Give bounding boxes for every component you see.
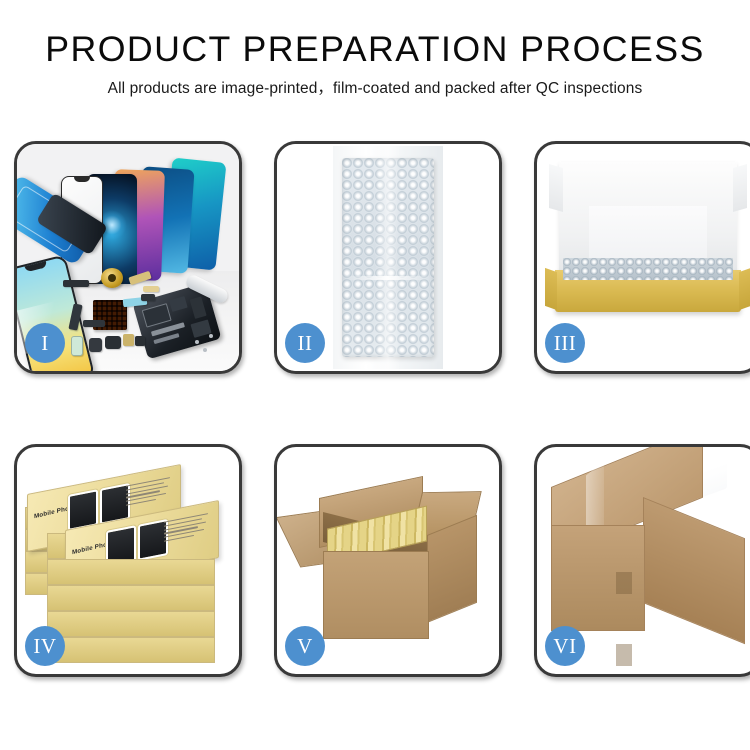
carton-side-left-icon <box>551 525 645 631</box>
screw-icon <box>195 340 199 344</box>
stacked-box-icon <box>47 559 215 585</box>
speaker-coil-icon <box>101 268 123 288</box>
step-badge-3: III <box>545 323 585 363</box>
box-side-left-icon <box>545 268 557 310</box>
box-spec-text-lines <box>164 512 212 544</box>
step-panel-1[interactable]: I <box>14 141 242 374</box>
gold-flex-icon <box>143 286 159 292</box>
stacked-box-icon <box>47 637 215 663</box>
screw-icon <box>203 348 207 352</box>
carton-side-right-icon <box>427 515 477 623</box>
speaker-module-icon <box>105 336 121 349</box>
antenna-flex-icon <box>83 320 105 327</box>
camera-module-icon <box>89 338 102 352</box>
sealed-carton-icon <box>551 481 747 645</box>
process-step-grid: I II <box>14 141 736 671</box>
step-panel-4[interactable]: Mobile Phone Spare Parts Mobile Phone Sp… <box>14 444 242 677</box>
product-preparation-infographic: PRODUCT PREPARATION PROCESS All products… <box>0 0 750 750</box>
step-badge-4: IV <box>25 626 65 666</box>
page-subtitle: All products are image-printed，film-coat… <box>0 78 750 100</box>
step-panel-5[interactable]: V <box>274 444 502 677</box>
carton-front-icon <box>323 551 429 639</box>
step-panel-3[interactable]: III <box>534 141 750 374</box>
volume-flex-icon <box>141 294 155 301</box>
sim-tray-icon <box>135 336 145 346</box>
carton-handle-slot-icon <box>616 572 632 594</box>
step-badge-5: V <box>285 626 325 666</box>
carton-side-right-icon <box>643 497 745 644</box>
box-spec-text-lines <box>126 476 174 508</box>
plastic-sheen-icon <box>375 144 401 371</box>
battery-icon <box>71 336 83 356</box>
vibrator-motor-icon <box>123 334 134 346</box>
box-side-right-icon <box>739 268 750 310</box>
step-badge-6: VI <box>545 626 585 666</box>
step-badge-2: II <box>285 323 325 363</box>
bubble-wrapped-contents-icon <box>563 258 733 280</box>
stacked-box-icon <box>47 585 215 611</box>
stacked-box-icon <box>47 611 215 637</box>
page-title: PRODUCT PREPARATION PROCESS <box>0 30 750 70</box>
screw-icon <box>209 334 213 338</box>
step-panel-2[interactable]: II <box>274 141 502 374</box>
open-carton-icon <box>295 479 485 645</box>
step-badge-1: I <box>25 323 65 363</box>
flex-cable-icon <box>63 280 89 287</box>
step-panel-6[interactable]: VI <box>534 444 750 677</box>
box-stack-icon: Mobile Phone Spare Parts Mobile Phone Sp… <box>21 471 233 653</box>
kraft-mailer-base-icon <box>555 270 741 312</box>
header: PRODUCT PREPARATION PROCESS All products… <box>0 0 750 100</box>
carton-handle-slot-icon <box>616 644 632 666</box>
